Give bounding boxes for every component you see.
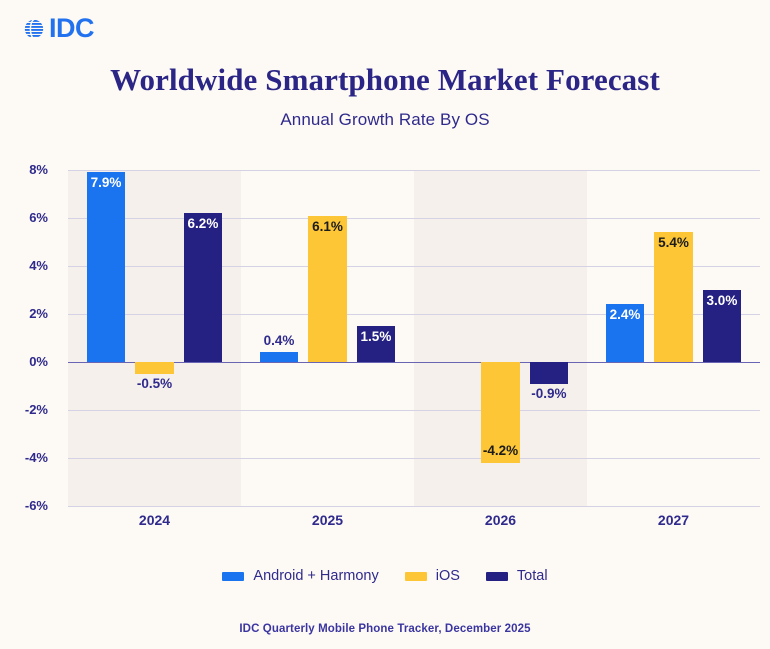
y-axis-tick-6%: 6% <box>4 210 48 225</box>
x-axis-tick-2027: 2027 <box>587 512 760 528</box>
legend-label: iOS <box>436 568 460 584</box>
x-axis-tick-2024: 2024 <box>68 512 241 528</box>
legend-label: Total <box>517 568 548 584</box>
bar-value-label-2024-android-harmony: 7.9% <box>73 175 140 190</box>
bar-value-label-2025-ios: 6.1% <box>294 219 361 234</box>
bar-value-label-2024-ios: -0.5% <box>121 376 188 391</box>
y-axis-tick-0%: 0% <box>4 354 48 369</box>
bar-value-label-2025-total: 1.5% <box>343 329 410 344</box>
x-axis-tick-2025: 2025 <box>241 512 414 528</box>
y-axis-tick--6%: -6% <box>4 498 48 513</box>
chart-container: 8%6%4%2%0%-2%-4%-6%20242025202620277.9%-… <box>0 0 770 649</box>
bar-2024-total[interactable] <box>184 213 223 362</box>
bar-2024-android-harmony[interactable] <box>87 172 126 362</box>
x-axis-tick-2026: 2026 <box>414 512 587 528</box>
legend-swatch-icon <box>222 572 244 581</box>
legend-label: Android + Harmony <box>253 568 378 584</box>
bar-2027-ios[interactable] <box>654 232 693 362</box>
bar-value-label-2027-total: 3.0% <box>689 293 756 308</box>
legend-swatch-icon <box>405 572 427 581</box>
legend-swatch-icon <box>486 572 508 581</box>
chart-legend: Android + HarmonyiOSTotal <box>0 568 770 584</box>
y-axis-tick--4%: -4% <box>4 450 48 465</box>
gridline--4% <box>68 458 760 459</box>
bar-value-label-2026-ios: -4.2% <box>467 443 534 458</box>
source-note: IDC Quarterly Mobile Phone Tracker, Dece… <box>0 623 770 635</box>
legend-item-total[interactable]: Total <box>486 568 548 584</box>
gridline--2% <box>68 410 760 411</box>
y-axis-tick-4%: 4% <box>4 258 48 273</box>
bar-2024-ios[interactable] <box>135 362 174 374</box>
y-axis-tick-2%: 2% <box>4 306 48 321</box>
y-axis-tick--2%: -2% <box>4 402 48 417</box>
gridline-8% <box>68 170 760 171</box>
bar-value-label-2024-total: 6.2% <box>170 216 237 231</box>
plot-area: 8%6%4%2%0%-2%-4%-6%20242025202620277.9%-… <box>68 170 760 506</box>
gridline--6% <box>68 506 760 507</box>
bar-value-label-2026-total: -0.9% <box>516 386 583 401</box>
bar-value-label-2025-android-harmony: 0.4% <box>246 333 313 348</box>
bar-2025-android-harmony[interactable] <box>260 352 299 362</box>
legend-item-android-harmony[interactable]: Android + Harmony <box>222 568 378 584</box>
y-axis-tick-8%: 8% <box>4 162 48 177</box>
bar-2026-total[interactable] <box>530 362 569 384</box>
bar-value-label-2027-ios: 5.4% <box>640 235 707 250</box>
bar-value-label-2027-android-harmony: 2.4% <box>592 307 659 322</box>
legend-item-ios[interactable]: iOS <box>405 568 460 584</box>
bar-2025-ios[interactable] <box>308 216 347 362</box>
